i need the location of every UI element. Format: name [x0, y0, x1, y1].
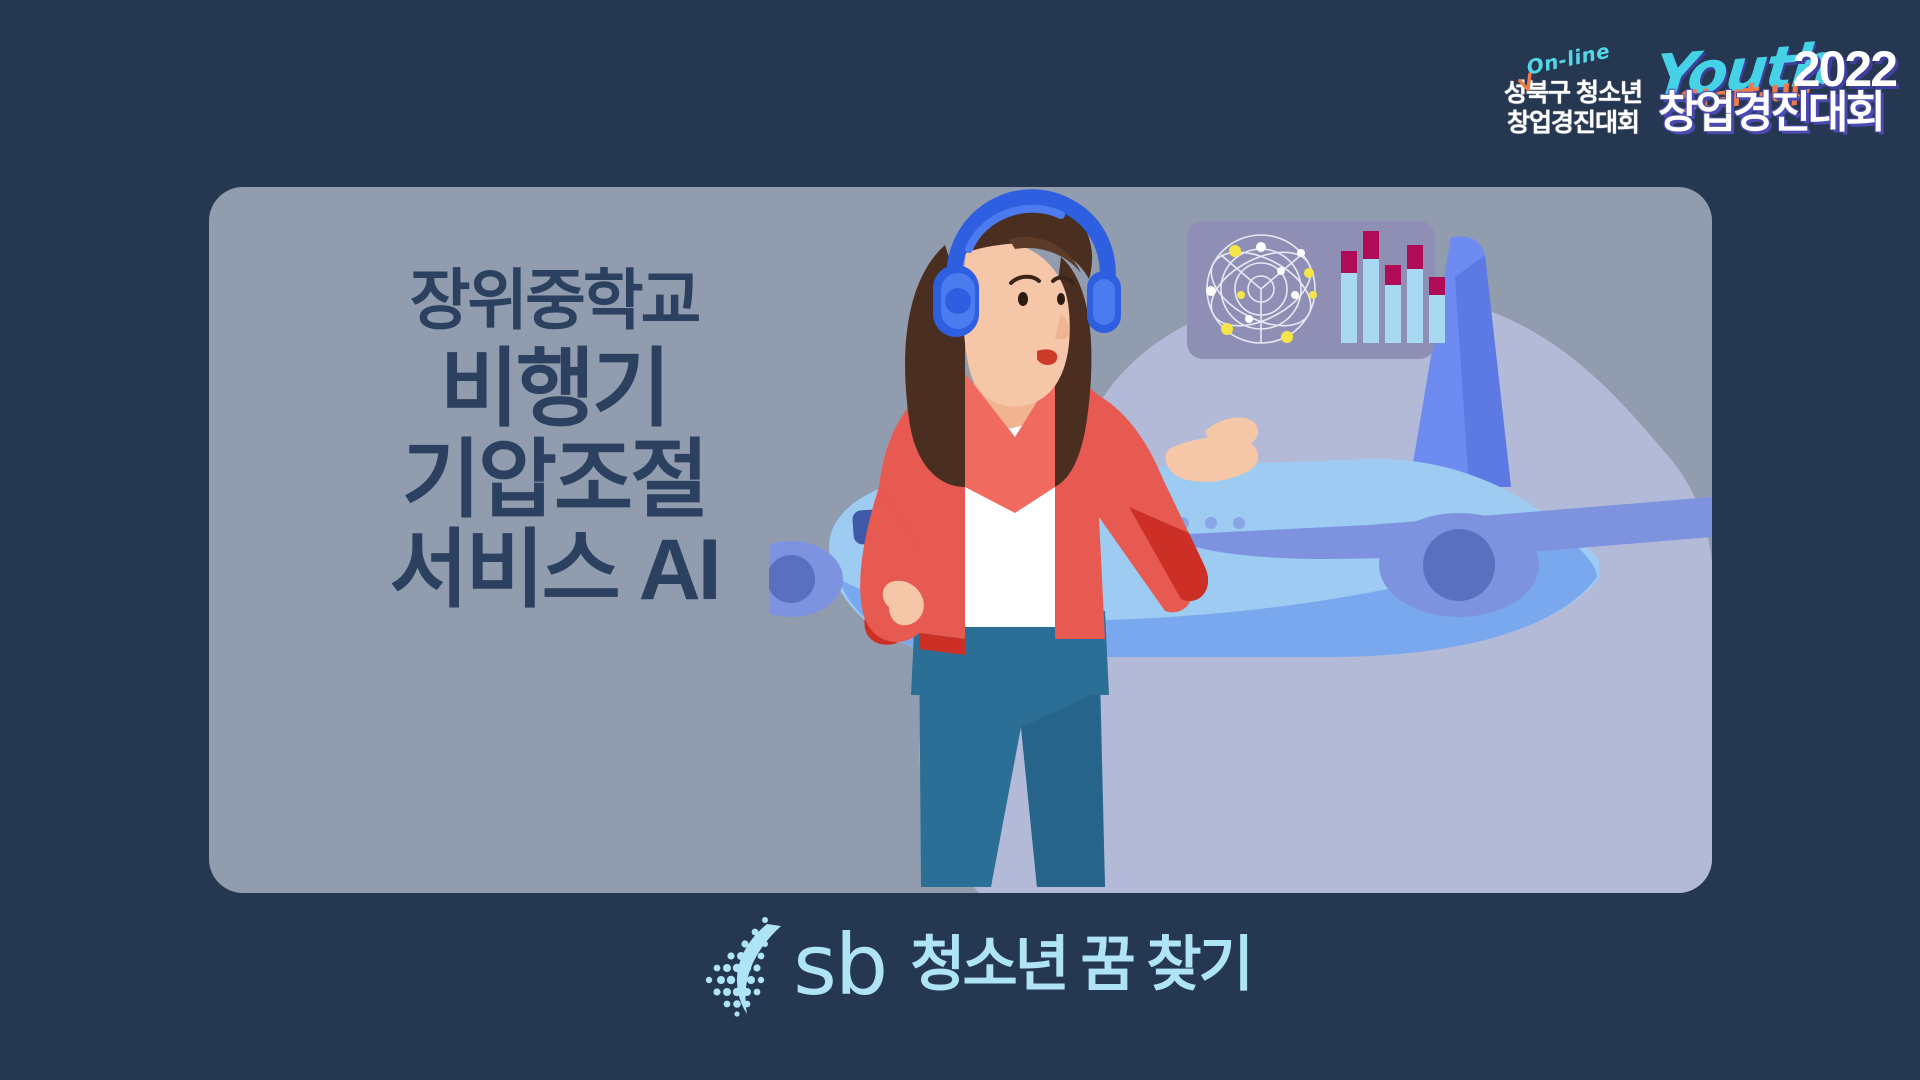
event-contest-name: 창업경진대회: [1658, 76, 1883, 140]
footer: sb 청소년 꿈 찾기: [0, 910, 1920, 1020]
person-face: [963, 241, 1070, 406]
bar-2: [1363, 231, 1379, 343]
illustration-svg: [769, 187, 1712, 893]
main-card: 장위중학교 비행기 기압조절 서비스 AI: [209, 187, 1712, 893]
footer-tagline: 청소년 꿈 찾기: [910, 935, 1251, 995]
title-line-3: 서비스 AI: [289, 526, 819, 615]
sb-dot-flame-logo: [669, 910, 789, 1020]
headphone-cup-right: [1087, 271, 1121, 333]
bar-5: [1429, 277, 1445, 343]
event-logo-left: On-line 성북구 청소년 창업경진대회: [1504, 53, 1642, 138]
bar-1: [1341, 251, 1357, 343]
bar-3: [1385, 265, 1401, 343]
person-eye-2: [1057, 293, 1065, 305]
person-eye: [1018, 292, 1028, 306]
bar-4: [1407, 245, 1423, 343]
title-line-2: 기압조절: [289, 436, 819, 525]
check-icon: [1516, 67, 1545, 96]
illustration: [769, 187, 1712, 893]
brand-wordmark: sb: [793, 923, 886, 1007]
headphone-cup-left: [933, 265, 979, 337]
event-logo: On-line 성북구 청소년 창업경진대회 Youth Start-up 20…: [1504, 34, 1896, 138]
event-org-line-2: 창업경진대회: [1504, 109, 1642, 139]
airplane-engine-right: [1379, 513, 1539, 617]
page-title: 장위중학교 비행기 기압조절 서비스 AI: [289, 267, 819, 617]
title-line-1: 비행기: [289, 345, 819, 434]
title-school: 장위중학교: [289, 267, 819, 335]
hud-panel: [1187, 221, 1445, 359]
poster-canvas: On-line 성북구 청소년 창업경진대회 Youth Start-up 20…: [0, 0, 1920, 1080]
title-main: 비행기 기압조절 서비스 AI: [289, 345, 819, 615]
event-logo-right: Youth Start-up 2022 창업경진대회: [1656, 34, 1896, 138]
